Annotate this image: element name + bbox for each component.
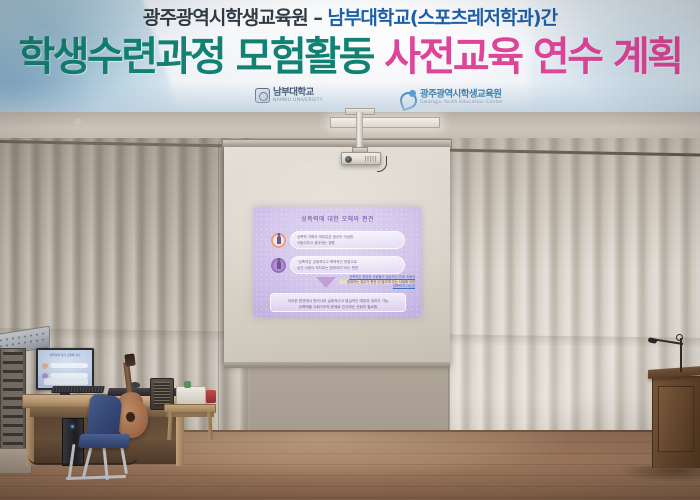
projected-slide: 성폭력에 대한 오해와 편견 성폭력 가해자 대부분은 정신이 이상한 사람이라… xyxy=(254,207,421,317)
person-glyph xyxy=(277,261,281,269)
person-icon-purple xyxy=(271,258,286,273)
podium-front-panel xyxy=(658,386,694,452)
projector-vent-icon xyxy=(365,156,377,162)
monitor-screen: 성폭력에 대한 오해와 편견 xyxy=(38,350,92,388)
slide-highlight-note: 성폭력은 평범한 사람들이 일상적인 관계 속에서 발생하는 경우가 훨씬 더 … xyxy=(339,275,415,289)
slide-title: 성폭력에 대한 오해와 편견 xyxy=(254,214,421,223)
banner-subtitle-org: 광주광역시학생교육원 – xyxy=(143,7,322,29)
slide-bullet-row-2: "성폭력은 강제적이고 폭력적인 방법으로 낯선 사람이 저지르는 범죄이다"라… xyxy=(271,256,405,274)
slide-bubble-1-line-2: 사람이라고 생각하는 경향 xyxy=(297,241,399,247)
projector-lens-icon xyxy=(345,156,352,163)
banner-subtitle-partner: 남부대학교(스포츠레저학과)간 xyxy=(322,7,557,29)
monitor-bubble-1 xyxy=(50,363,88,368)
green-object xyxy=(184,381,191,388)
red-object xyxy=(206,390,216,403)
auditorium-stage-photo: 광주광역시학생교육원 – 남부대학교(스포츠레저학과)간 학생수련과정 모험활동… xyxy=(0,0,700,500)
person-icon-orange xyxy=(271,233,286,248)
microphone-joint xyxy=(676,334,683,341)
keyboard-keys-icon xyxy=(52,387,103,392)
desktop-monitor[interactable]: 성폭력에 대한 오해와 편견 xyxy=(36,348,94,390)
projection-screen-weight-bar xyxy=(224,362,450,368)
ceiling-light-panel-icon xyxy=(330,117,440,128)
event-banner: 광주광역시학생교육원 – 남부대학교(스포츠레저학과)간 학생수련과정 모험활동… xyxy=(0,0,700,112)
banner-subtitle-line: 광주광역시학생교육원 – 남부대학교(스포츠레저학과)간 xyxy=(0,3,700,33)
blue-folding-chair-seat xyxy=(78,434,130,448)
slide-summary-line-2: 성폭력을 사회구조적 문제로 인식하는 관점이 필요함 xyxy=(276,304,400,310)
banner-main-title: 학생수련과정 모험활동 사전교육 연수 계획 xyxy=(0,32,700,82)
white-storage-box xyxy=(176,386,206,405)
computer-keyboard[interactable] xyxy=(51,386,105,393)
banner-title-part-2: 사전교육 연수 계획 xyxy=(384,34,681,80)
projection-screen: 성폭력에 대한 오해와 편견 성폭력 가해자 대부분은 정신이 이상한 사람이라… xyxy=(224,147,450,365)
person-icon-orange xyxy=(42,363,48,369)
slide-note-line-1: 성폭력은 평범한 사람들이 일상적인 관계 속에서 xyxy=(339,275,415,280)
podium-shadow xyxy=(620,466,700,482)
slide-bubble-2: "성폭력은 강제적이고 폭력적인 방법으로 낯선 사람이 저지르는 범죄이다"라… xyxy=(290,256,405,274)
monitor-summary-box xyxy=(44,378,88,385)
slide-bubble-2-line-2: 낯선 사람이 저지르는 범죄이다"라는 편견 xyxy=(297,266,399,272)
secondary-keyboard[interactable] xyxy=(107,388,187,396)
wall-seam-left xyxy=(218,142,219,442)
slide-bullet-row-1: 성폭력 가해자 대부분은 정신이 이상한 사람이라고 생각하는 경향 xyxy=(271,231,405,249)
person-glyph xyxy=(277,236,281,244)
ceiling-spot-icon xyxy=(75,118,81,124)
slide-summary-box: 이러한 편견에서 벗어나야 실제적이고 현실적인 예방과 대처가 가능 성폭력을… xyxy=(270,293,406,312)
amplifier-grille-icon xyxy=(154,382,170,406)
down-arrow-icon xyxy=(316,277,336,288)
ceiling-projector xyxy=(341,152,381,165)
slide-bubble-1: 성폭력 가해자 대부분은 정신이 이상한 사람이라고 생각하는 경향 xyxy=(290,231,405,249)
banner-title-part-1: 학생수련과정 모험활동 xyxy=(18,34,384,80)
monitor-row-1 xyxy=(42,362,88,369)
slide-note-line-3: 성폭력이 다수임 xyxy=(339,284,415,289)
guitar-headstock xyxy=(124,353,135,366)
power-led-icon xyxy=(71,425,74,428)
monitor-slide-title: 성폭력에 대한 오해와 편견 xyxy=(38,353,92,357)
